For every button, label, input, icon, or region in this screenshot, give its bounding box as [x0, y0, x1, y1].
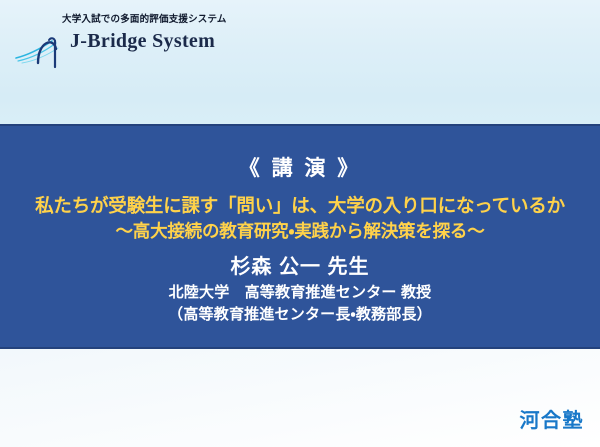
jbridge-brand-block: 大学入試での多面的評価支援システム J-Bridge System — [14, 6, 274, 68]
bridge-arch-logo-icon — [14, 25, 74, 69]
brand-tagline: 大学入試での多面的評価支援システム — [62, 11, 227, 25]
jbridge-wordmark: J-Bridge System — [70, 30, 215, 53]
kawaijuku-logo: 河合塾 — [520, 404, 585, 433]
slide-footer: 河合塾 — [0, 349, 600, 447]
slide-header: 大学入試での多面的評価支援システム J-Bridge System — [0, 0, 600, 124]
talk-title-line-2: ～高大接続の教育研究・実践から解決策を探る～ — [0, 219, 600, 244]
presentation-slide: 大学入試での多面的評価支援システム J-Bridge System — [0, 0, 600, 447]
speaker-affiliation-sub: （高等教育推進センター長・教務部長） — [0, 304, 600, 325]
lecture-panel: 《 講 演 》 私たちが受験生に課す「問い」は、大学の入り口になっているか ～高… — [0, 124, 600, 349]
talk-title: 私たちが受験生に課す「問い」は、大学の入り口になっているか ～高大接続の教育研究… — [0, 180, 600, 244]
lecture-panel-content: 《 講 演 》 私たちが受験生に課す「問い」は、大学の入り口になっているか ～高… — [0, 126, 600, 347]
speaker-affiliation: 北陸大学 高等教育推進センター 教授 — [169, 284, 432, 301]
speaker-affiliation-block: 北陸大学 高等教育推進センター 教授 （高等教育推進センター長・教務部長） — [0, 279, 600, 325]
speaker-name: 杉森 公一 先生 — [0, 244, 600, 279]
talk-title-line-1: 私たちが受験生に課す「問い」は、大学の入り口になっているか — [35, 195, 565, 216]
lecture-label: 《 講 演 》 — [0, 126, 600, 180]
